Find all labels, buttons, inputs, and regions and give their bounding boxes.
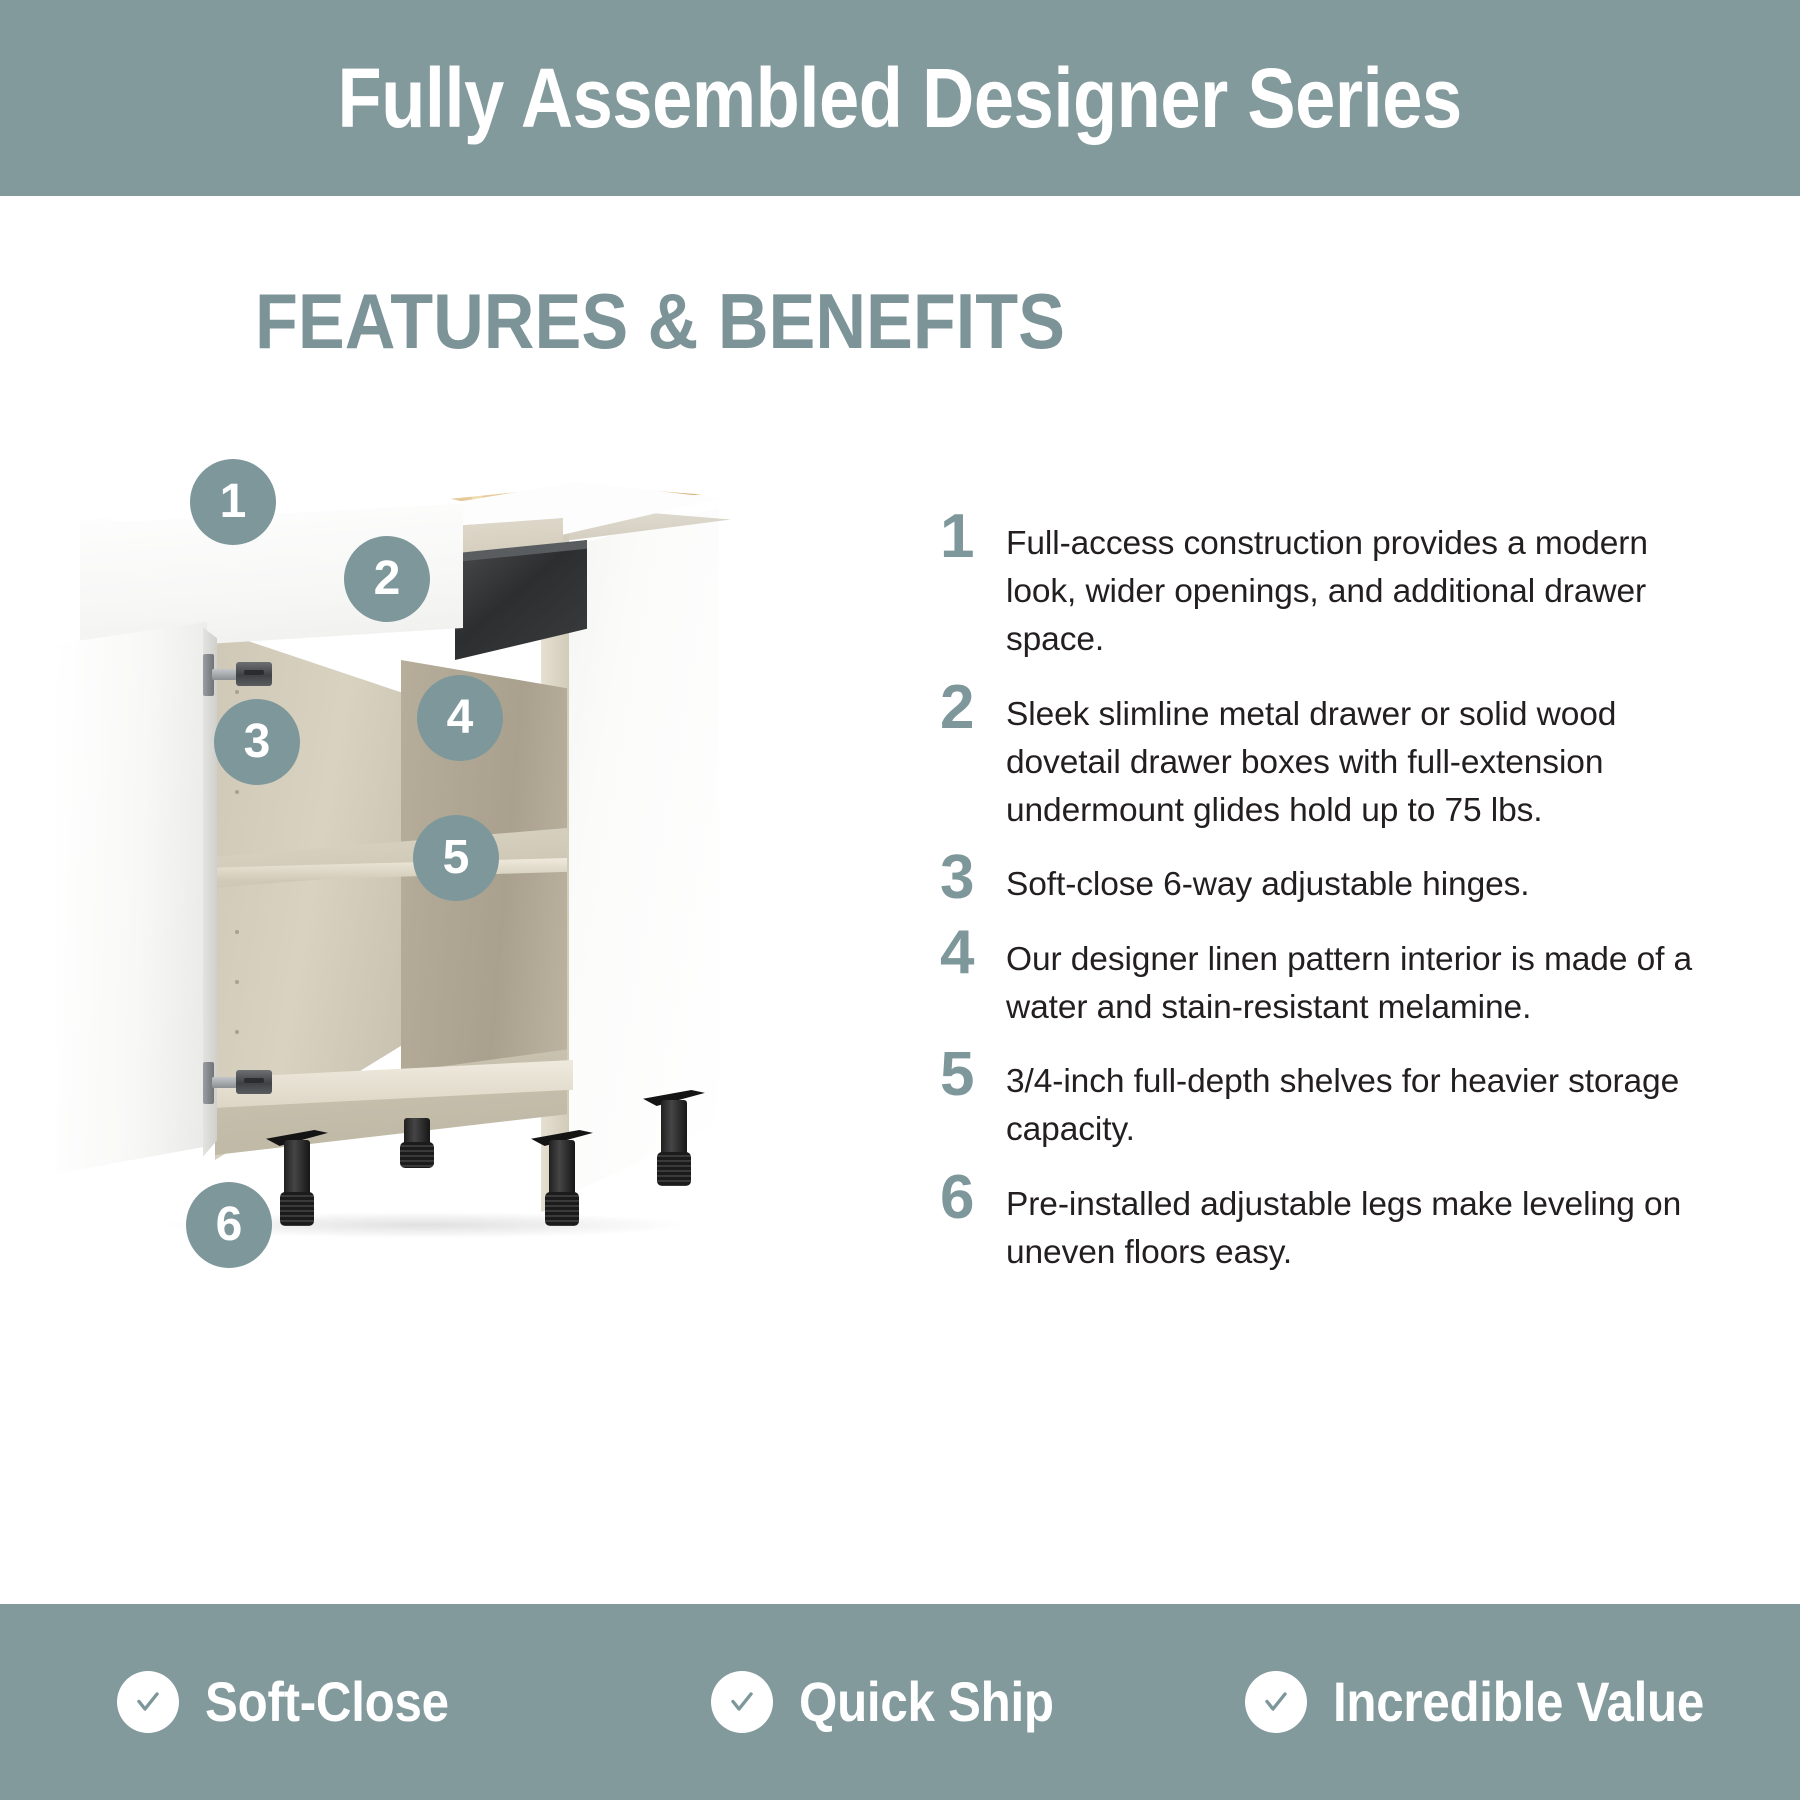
footer-badge-soft-close: Soft-Close xyxy=(0,1671,600,1733)
features-list: 1 Full-access construction provides a mo… xyxy=(940,520,1700,1303)
footer-label: Quick Ship xyxy=(799,1674,1054,1730)
feature-description: Sleek slimline metal drawer or solid woo… xyxy=(1006,691,1700,836)
callout-badge-4[interactable]: 4 xyxy=(417,675,503,761)
feature-item: 2 Sleek slimline metal drawer or solid w… xyxy=(940,691,1700,836)
callout-badge-2[interactable]: 2 xyxy=(344,536,430,622)
feature-number: 1 xyxy=(940,508,1006,565)
shelf-pin-hole xyxy=(235,790,239,794)
callout-badge-6[interactable]: 6 xyxy=(186,1182,272,1268)
feature-description: Full-access construction provides a mode… xyxy=(1006,520,1700,665)
page-title: Fully Assembled Designer Series xyxy=(338,56,1462,140)
adjustable-leg xyxy=(280,1130,314,1226)
footer-bar: Soft-Close Quick Ship Incredible Value xyxy=(0,1604,1800,1800)
cabinet-door-panel xyxy=(55,622,207,1174)
adjustable-leg xyxy=(545,1130,579,1226)
feature-description: 3/4-inch full-depth shelves for heavier … xyxy=(1006,1058,1700,1154)
footer-label: Soft-Close xyxy=(205,1674,449,1730)
callout-badge-5[interactable]: 5 xyxy=(413,815,499,901)
adjustable-leg xyxy=(400,1108,434,1204)
callout-badge-3[interactable]: 3 xyxy=(214,699,300,785)
footer-badge-quick-ship: Quick Ship xyxy=(600,1671,1200,1733)
feature-number: 3 xyxy=(940,849,1006,906)
adjustable-leg xyxy=(657,1090,691,1186)
feature-description: Pre-installed adjustable legs make level… xyxy=(1006,1181,1700,1277)
feature-number: 4 xyxy=(940,924,1006,981)
soft-close-hinge-icon xyxy=(203,1060,273,1106)
footer-label: Incredible Value xyxy=(1333,1674,1704,1730)
feature-item: 4 Our designer linen pattern interior is… xyxy=(940,936,1700,1032)
infographic-page: Fully Assembled Designer Series FEATURES… xyxy=(0,0,1800,1800)
feature-description: Soft-close 6-way adjustable hinges. xyxy=(1006,861,1700,909)
callout-badge-1[interactable]: 1 xyxy=(190,459,276,545)
feature-number: 5 xyxy=(940,1046,1006,1103)
check-circle-icon xyxy=(1245,1671,1307,1733)
soft-close-hinge-icon xyxy=(203,652,273,698)
section-heading: FEATURES & BENEFITS xyxy=(66,282,1254,360)
feature-item: 5 3/4-inch full-depth shelves for heavie… xyxy=(940,1058,1700,1154)
check-circle-icon xyxy=(117,1671,179,1733)
cabinet-illustration: 1 2 3 4 5 6 xyxy=(45,440,805,1320)
shelf-pin-hole xyxy=(235,930,239,934)
feature-number: 6 xyxy=(940,1169,1006,1226)
shelf-pin-hole xyxy=(235,980,239,984)
feature-number: 2 xyxy=(940,679,1006,736)
feature-item: 6 Pre-installed adjustable legs make lev… xyxy=(940,1181,1700,1277)
feature-description: Our designer linen pattern interior is m… xyxy=(1006,936,1700,1032)
feature-item: 3 Soft-close 6-way adjustable hinges. xyxy=(940,861,1700,909)
feature-item: 1 Full-access construction provides a mo… xyxy=(940,520,1700,665)
shelf-pin-hole xyxy=(235,1030,239,1034)
header-bar: Fully Assembled Designer Series xyxy=(0,0,1800,196)
footer-badge-incredible-value: Incredible Value xyxy=(1200,1671,1800,1733)
check-circle-icon xyxy=(711,1671,773,1733)
